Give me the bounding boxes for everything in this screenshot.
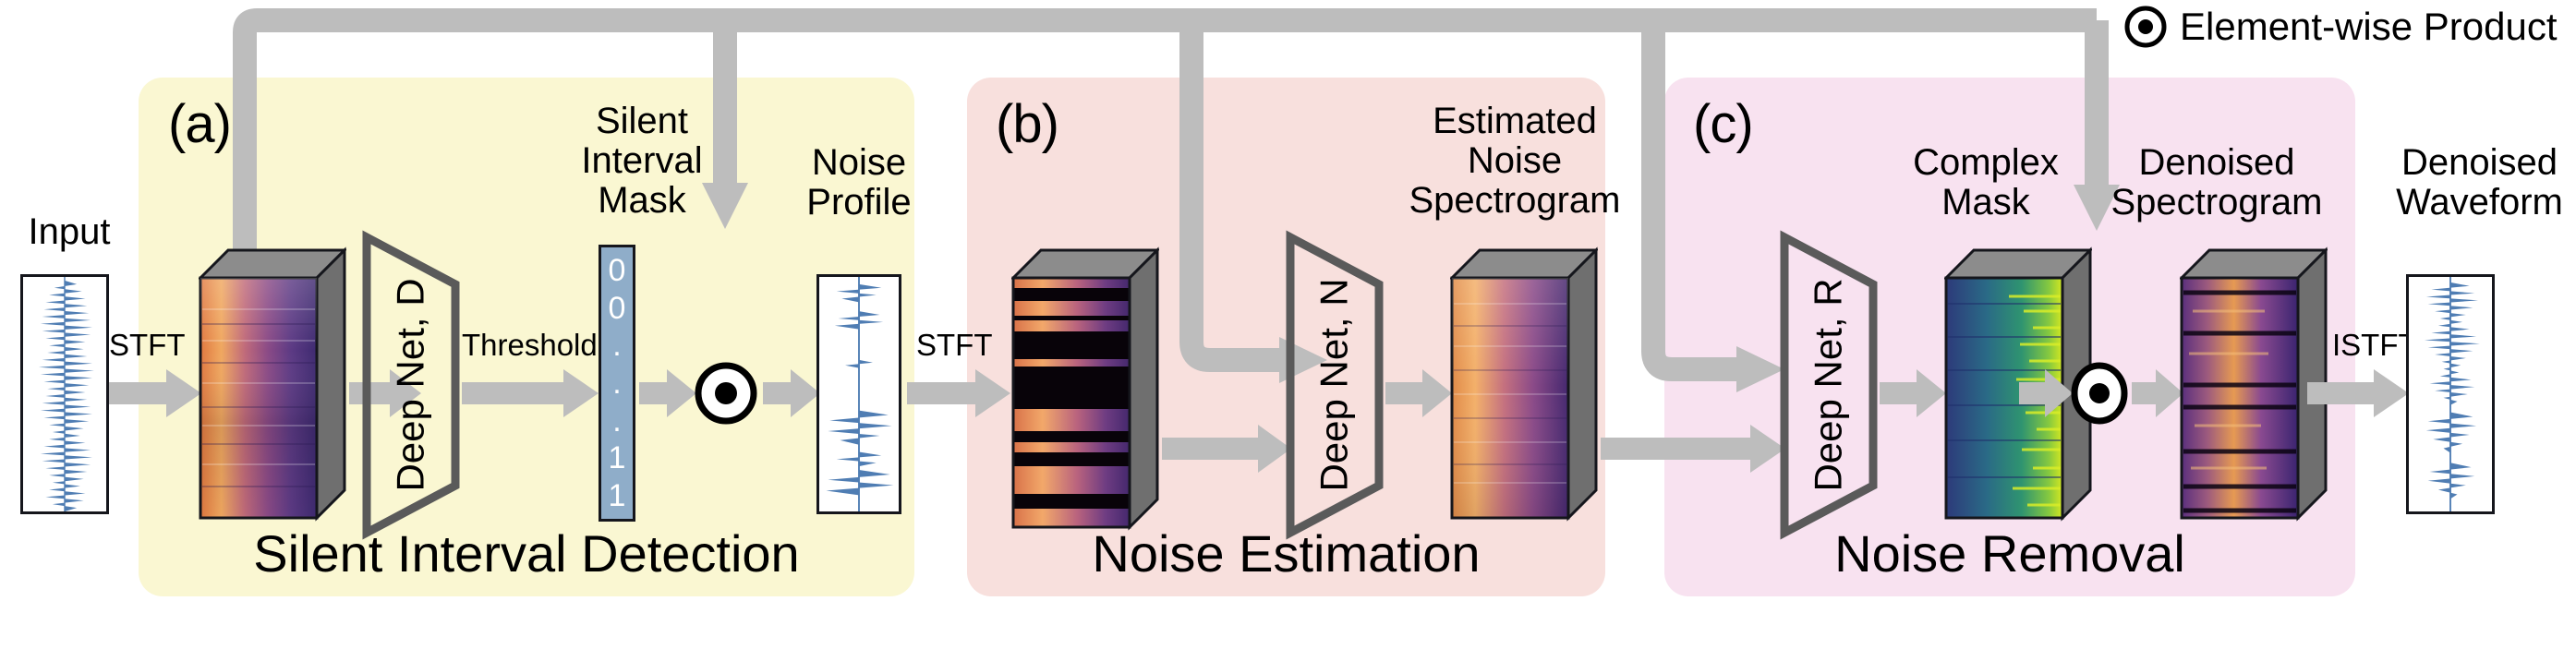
edge-label-threshold: Threshold	[462, 330, 598, 360]
label-denoised-spectrogram-line1: Denoised	[2069, 143, 2364, 183]
input-waveform	[20, 274, 109, 514]
noisy-spectrogram-block	[199, 245, 346, 522]
label-silent-interval-mask: Silent Interval Mask	[554, 102, 730, 222]
panel-tag-a: (a)	[168, 98, 231, 151]
label-silent-interval-mask-line1: Silent	[554, 102, 730, 141]
label-denoised-spectrogram-line2: Spectrogram	[2069, 183, 2364, 222]
panel-title-c: Noise Removal	[1664, 528, 2355, 580]
label-noise-profile-line1: Noise	[776, 143, 942, 183]
arrow-complex-mask-to-product-c	[2019, 367, 2073, 419]
label-noise-profile: Noise Profile	[776, 143, 942, 222]
arrow-noise-profile-to-noisy-block-b	[907, 367, 1010, 419]
legend-label: Element-wise Product	[2180, 7, 2558, 46]
noise-profile-waveform	[816, 274, 901, 514]
label-complex-mask-line2: Mask	[1870, 183, 2101, 222]
mask-value-6: 1	[609, 480, 626, 511]
deep-net-d: Deep Net, D	[360, 233, 462, 537]
mask-value-5: 1	[609, 442, 626, 474]
label-silent-interval-mask-line3: Mask	[554, 181, 730, 221]
edge-label-stft-a: STFT	[109, 330, 185, 360]
arrow-product-to-denoised-spectrogram	[2132, 367, 2183, 419]
mask-value-4: .	[612, 405, 621, 437]
label-estimated-noise-spectrogram-line2: Noise	[1358, 141, 1672, 181]
arrow-mask-to-product-a	[639, 367, 696, 419]
deep-net-n: Deep Net, N	[1284, 233, 1385, 537]
label-denoised-spectrogram: Denoised Spectrogram	[2069, 143, 2364, 222]
arrow-input-to-spectrogram	[109, 367, 201, 419]
panel-tag-c: (c)	[1693, 98, 1753, 151]
arrow-deepnet-r-to-complex-mask	[1880, 367, 1946, 419]
element-wise-product-icon-c	[2069, 360, 2130, 427]
label-complex-mask: Complex Mask	[1870, 143, 2101, 222]
deep-net-r: Deep Net, R	[1778, 233, 1880, 537]
label-complex-mask-line1: Complex	[1870, 143, 2101, 183]
element-wise-product-icon-a	[693, 360, 759, 427]
arrow-denoised-spectrogram-to-waveform	[2307, 367, 2409, 419]
element-wise-product-icon	[2124, 6, 2167, 48]
edge-label-stft-b: STFT	[916, 330, 992, 360]
label-denoised-waveform-line1: Denoised	[2383, 143, 2576, 183]
mask-value-3: .	[612, 367, 621, 399]
label-estimated-noise-spectrogram-line3: Spectrogram	[1358, 181, 1672, 221]
mask-value-2: .	[612, 330, 621, 361]
label-denoised-waveform-line2: Waveform	[2383, 183, 2576, 222]
estimated-noise-spectrogram-block	[1450, 245, 1598, 522]
label-noise-profile-line2: Profile	[776, 183, 942, 222]
arrow-deepnet-d-to-mask	[462, 367, 599, 419]
masked-noise-spectrogram-block	[1011, 245, 1159, 531]
denoised-waveform	[2406, 274, 2495, 514]
arrow-block-to-deepnet-n	[1162, 423, 1291, 475]
figure-canvas: (a) (b) (c) Silent Interval Detection No…	[0, 0, 2576, 661]
mask-value-1: 0	[609, 293, 626, 324]
silent-interval-mask-column: 0 0 . . . 1 1	[599, 245, 635, 522]
label-input: Input	[0, 212, 139, 252]
legend-element-wise-product: Element-wise Product	[2124, 6, 2558, 48]
label-estimated-noise-spectrogram-line1: Estimated	[1358, 102, 1672, 141]
panel-title-a: Silent Interval Detection	[139, 528, 914, 580]
label-denoised-waveform: Denoised Waveform	[2383, 143, 2576, 222]
edge-label-istft: ISTFT	[2332, 330, 2417, 360]
arrow-product-to-noise-profile	[763, 367, 820, 419]
panel-tag-b: (b)	[996, 98, 1058, 151]
label-silent-interval-mask-line2: Interval	[554, 141, 730, 181]
denoised-spectrogram-block	[2180, 245, 2328, 522]
mask-value-0: 0	[609, 255, 626, 286]
arrow-estimated-noise-to-deepnet-r	[1601, 423, 1785, 475]
arrow-deepnet-n-to-estimated-noise	[1385, 367, 1452, 419]
label-estimated-noise-spectrogram: Estimated Noise Spectrogram	[1358, 102, 1672, 222]
